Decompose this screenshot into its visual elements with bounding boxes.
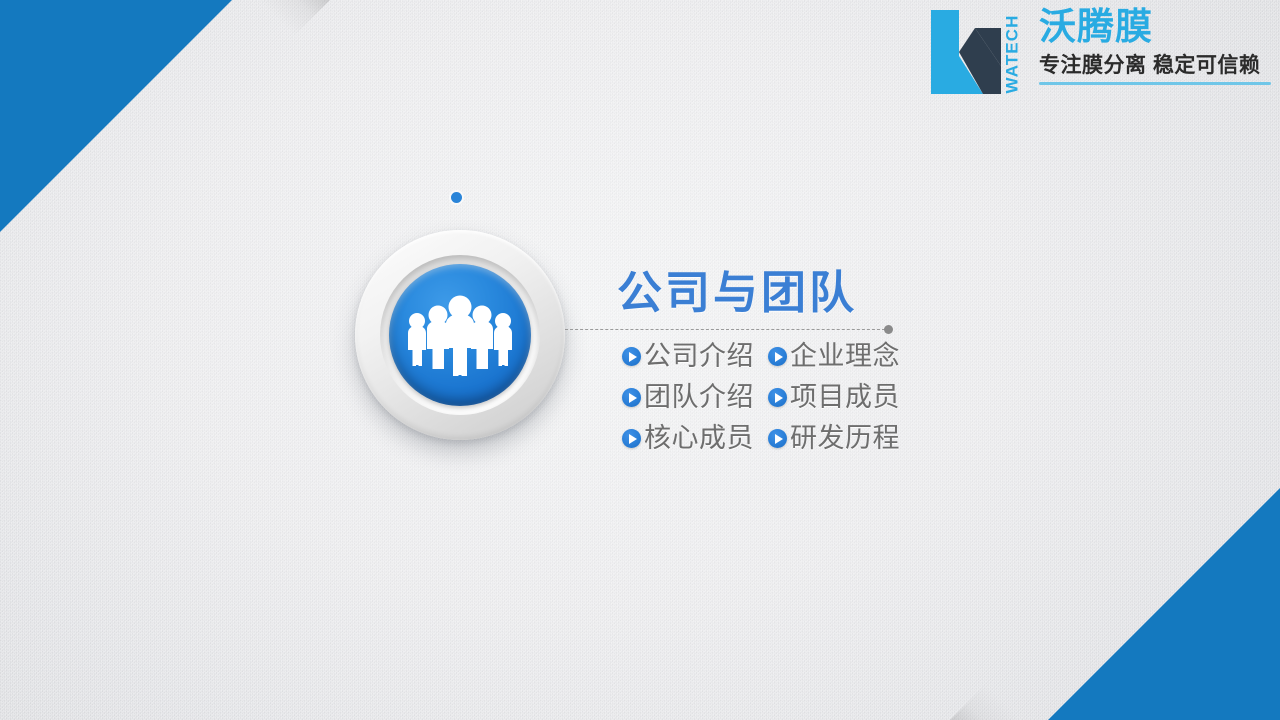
watech-w-mark-icon: WATECH (925, 6, 1021, 98)
top-left-corner-triangle (0, 0, 232, 232)
emblem-inner-ring (380, 255, 540, 415)
emblem-blue-disc (389, 264, 531, 406)
page-title: 公司与团队 (617, 268, 857, 318)
title-divider-line (565, 329, 885, 331)
menu-item-label: 核心成员 (644, 423, 754, 454)
brand-name: 沃腾膜 (1039, 8, 1271, 47)
brand-text-block: 沃腾膜 专注膜分离 稳定可信赖 (1039, 6, 1271, 85)
presentation-slide: WATECH 沃腾膜 专注膜分离 稳定可信赖 (0, 0, 1280, 720)
play-circle-icon (768, 347, 787, 366)
play-circle-icon (622, 347, 641, 366)
menu-item-company-philosophy[interactable]: 企业理念 (768, 341, 900, 372)
accent-dot (451, 192, 462, 203)
menu-item-label: 项目成员 (790, 382, 900, 413)
play-circle-icon (622, 429, 641, 448)
menu-item-label: 公司介绍 (644, 341, 754, 372)
menu-item-company-intro[interactable]: 公司介绍 (622, 341, 768, 372)
menu-item-rd-history[interactable]: 研发历程 (768, 423, 900, 454)
menu-item-team-intro[interactable]: 团队介绍 (622, 382, 768, 413)
play-circle-icon (622, 388, 641, 407)
menu-item-label: 研发历程 (790, 423, 900, 454)
brand-tagline: 专注膜分离 稳定可信赖 (1039, 54, 1271, 77)
menu-item-label: 企业理念 (790, 341, 900, 372)
people-group-icon (404, 287, 516, 383)
watech-vertical-text: WATECH (1001, 8, 1023, 100)
section-emblem (355, 230, 565, 440)
brand-underline-rule (1039, 82, 1271, 85)
brand-logo: WATECH 沃腾膜 专注膜分离 稳定可信赖 (925, 6, 1273, 104)
play-circle-icon (768, 388, 787, 407)
watech-vertical-label: WATECH (1002, 15, 1022, 94)
play-circle-icon (768, 429, 787, 448)
divider-end-dot (884, 325, 893, 334)
bottom-right-corner-triangle (1048, 488, 1280, 720)
menu-item-project-members[interactable]: 项目成员 (768, 382, 900, 413)
menu-item-label: 团队介绍 (644, 382, 754, 413)
section-menu: 公司介绍 企业理念 团队介绍 项目成员 核心成员 研发历程 (622, 341, 900, 454)
menu-item-core-members[interactable]: 核心成员 (622, 423, 768, 454)
